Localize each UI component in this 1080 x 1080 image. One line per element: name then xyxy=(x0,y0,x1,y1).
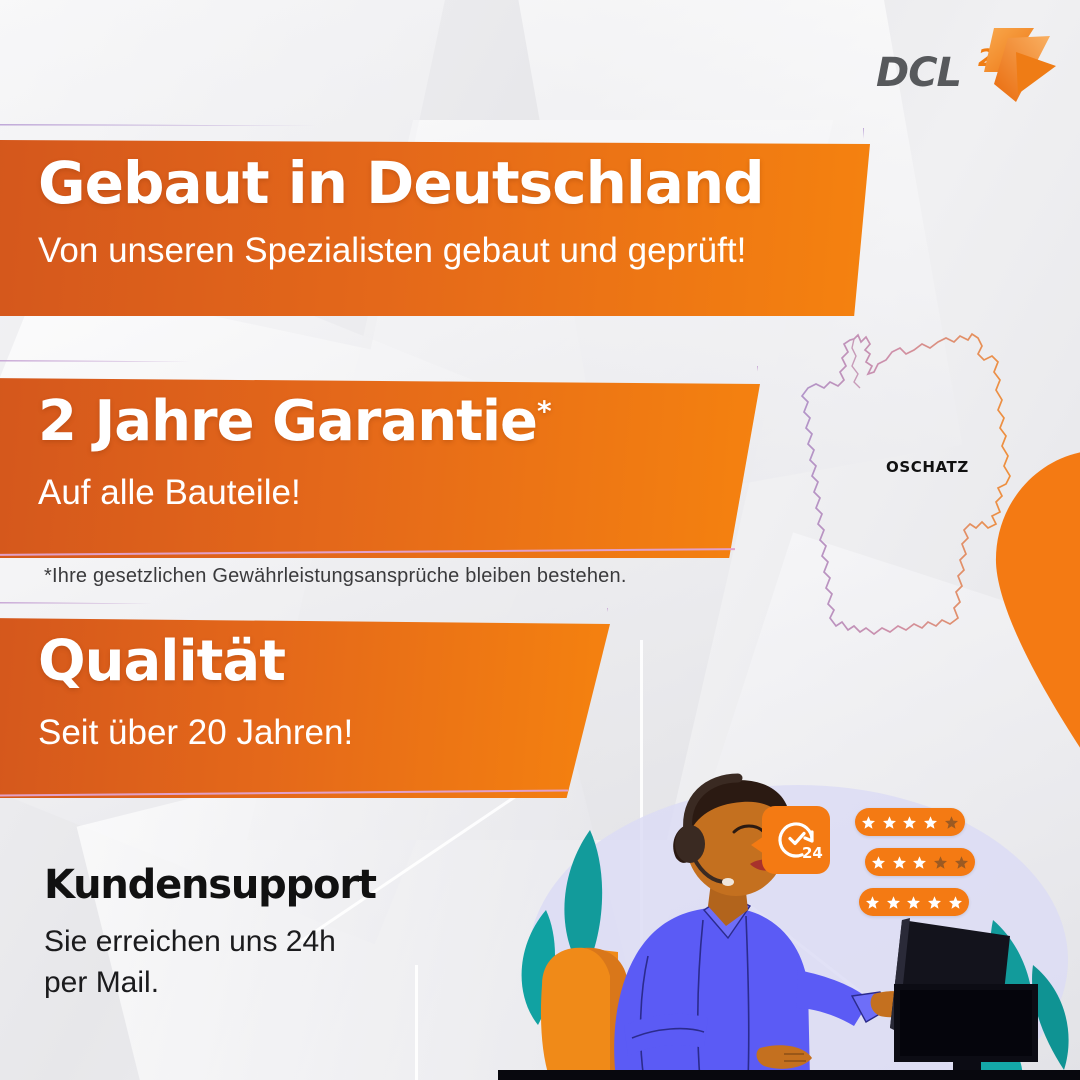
promo-graphic: DCL 24 Gebaut in Deutschland Von unseren… xyxy=(0,0,1080,1080)
star-filled-icon xyxy=(871,855,886,870)
support-24h-badge: 24 xyxy=(762,806,830,874)
support-line-1: Sie erreichen uns 24h xyxy=(44,925,336,958)
rating-pill xyxy=(865,848,975,876)
star-filled-icon xyxy=(906,895,921,910)
support-body: Sie erreichen uns 24hper Mail. xyxy=(44,922,376,1003)
map-city-label: OSCHATZ xyxy=(886,458,969,476)
germany-map: OSCHATZ xyxy=(782,326,1038,656)
banner-zwei-jahre-garantie: 2 Jahre Garantie* Auf alle Bauteile! xyxy=(0,378,760,558)
banner-subtitle: Seit über 20 Jahren! xyxy=(38,714,353,753)
star-filled-icon xyxy=(892,855,907,870)
banner-gebaut-in-deutschland: Gebaut in Deutschland Von unseren Spezia… xyxy=(0,140,870,316)
speech-bubble-tail xyxy=(751,836,764,854)
star-filled-icon xyxy=(902,815,917,830)
background-edge xyxy=(415,965,418,1080)
kundensupport-block: Kundensupport Sie erreichen uns 24hper M… xyxy=(44,862,376,1003)
banner-subtitle: Von unseren Spezialisten gebaut und gepr… xyxy=(38,232,746,271)
legal-footnote: *Ihre gesetzlichen Gewährleistungsansprü… xyxy=(44,565,627,588)
rating-pills xyxy=(855,808,975,928)
star-empty-icon xyxy=(933,855,948,870)
star-empty-icon xyxy=(944,815,959,830)
banner-title-text: 2 Jahre Garantie xyxy=(38,389,537,454)
badge-value: 24 xyxy=(802,844,823,862)
clock-check-24h-icon: 24 xyxy=(771,814,823,866)
star-filled-icon xyxy=(886,895,901,910)
support-line-2: per Mail. xyxy=(44,966,159,999)
dcl24-logo[interactable]: DCL 24 xyxy=(866,22,1056,108)
star-filled-icon xyxy=(882,815,897,830)
banner-title: Gebaut in Deutschland xyxy=(38,154,764,212)
star-filled-icon xyxy=(927,895,942,910)
star-filled-icon xyxy=(912,855,927,870)
star-filled-icon xyxy=(865,895,880,910)
asterisk-marker: * xyxy=(537,394,551,427)
banner-title: 2 Jahre Garantie* xyxy=(38,394,551,450)
rating-pill xyxy=(855,808,965,836)
banner-subtitle: Auf alle Bauteile! xyxy=(38,474,301,513)
map-pin-icon xyxy=(974,450,1080,780)
star-empty-icon xyxy=(954,855,969,870)
rating-pill xyxy=(859,888,969,916)
support-heading: Kundensupport xyxy=(44,862,376,908)
star-filled-icon xyxy=(861,815,876,830)
banner-title: Qualität xyxy=(38,634,285,690)
star-filled-icon xyxy=(948,895,963,910)
logo-arrow-icon xyxy=(866,22,1056,108)
star-filled-icon xyxy=(923,815,938,830)
